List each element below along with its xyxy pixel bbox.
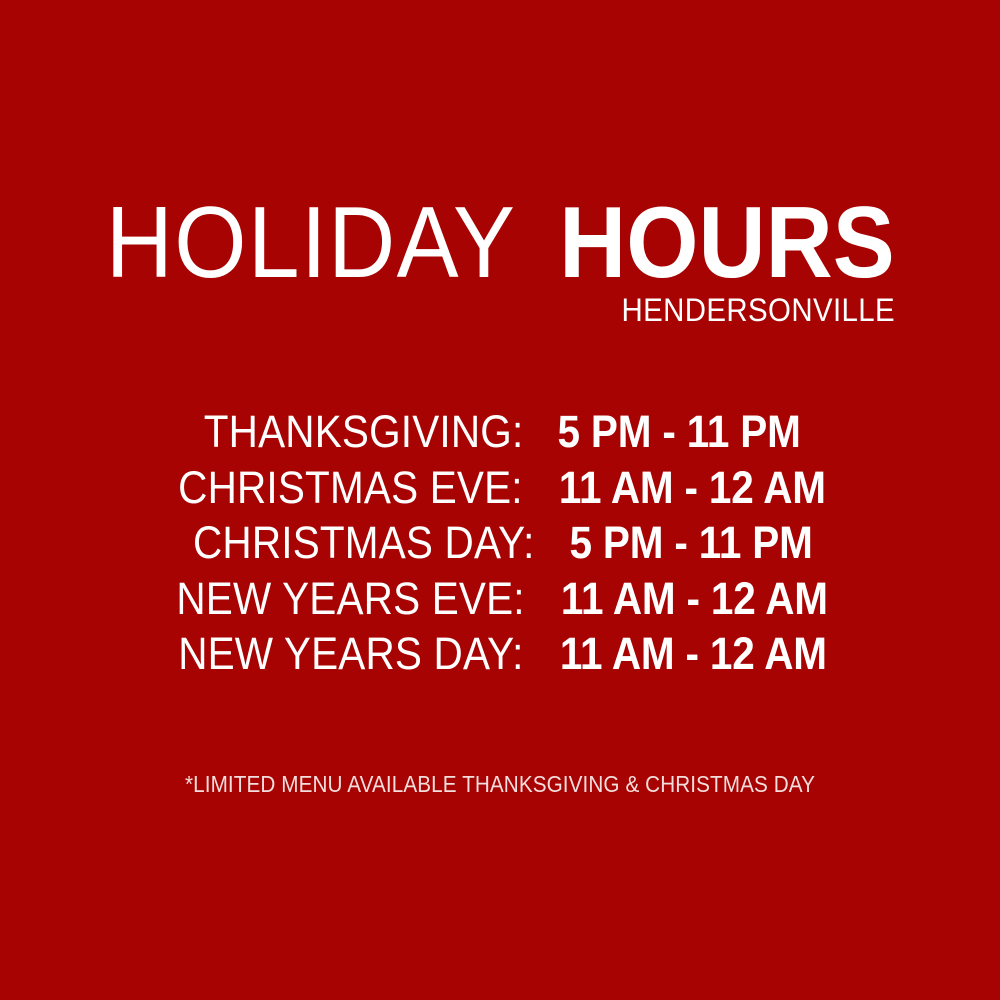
title-word-hours: HOURS (559, 196, 895, 291)
hours-row: NEW YEARS EVE: 11 AM - 12 AM (0, 571, 1000, 627)
time-value: 5 PM - 11 PM (557, 404, 800, 460)
holiday-hours-poster: HOLIDAYHOURS HENDERSONVILLE THANKSGIVING… (0, 0, 1000, 1000)
day-label: CHRISTMAS EVE: (178, 460, 523, 516)
time-value: 11 AM - 12 AM (559, 460, 826, 516)
page-title: HOLIDAYHOURS (0, 196, 895, 291)
day-label: CHRISTMAS DAY: (193, 515, 535, 571)
time-value: 11 AM - 12 AM (561, 571, 828, 627)
hours-row: CHRISTMAS EVE: 11 AM - 12 AM (0, 460, 1000, 516)
day-label: NEW YEARS DAY: (178, 626, 523, 682)
hours-list: THANKSGIVING: 5 PM - 11 PM CHRISTMAS EVE… (0, 404, 1000, 682)
footnote-text: *LIMITED MENU AVAILABLE THANKSGIVING & C… (185, 771, 815, 799)
hours-row: CHRISTMAS DAY: 5 PM - 11 PM (0, 515, 1000, 571)
footnote-disclaimer: *LIMITED MENU AVAILABLE THANKSGIVING & C… (0, 771, 1000, 799)
location-subtitle: HENDERSONVILLE (72, 293, 895, 329)
hours-row: NEW YEARS DAY: 11 AM - 12 AM (0, 626, 1000, 682)
day-label: NEW YEARS EVE: (176, 571, 524, 627)
day-label: THANKSGIVING: (204, 404, 524, 460)
time-value: 5 PM - 11 PM (569, 515, 812, 571)
time-value: 11 AM - 12 AM (560, 626, 827, 682)
title-word-holiday: HOLIDAY (106, 196, 517, 291)
poster-header: HOLIDAYHOURS HENDERSONVILLE (0, 196, 895, 329)
hours-row: THANKSGIVING: 5 PM - 11 PM (0, 404, 1000, 460)
